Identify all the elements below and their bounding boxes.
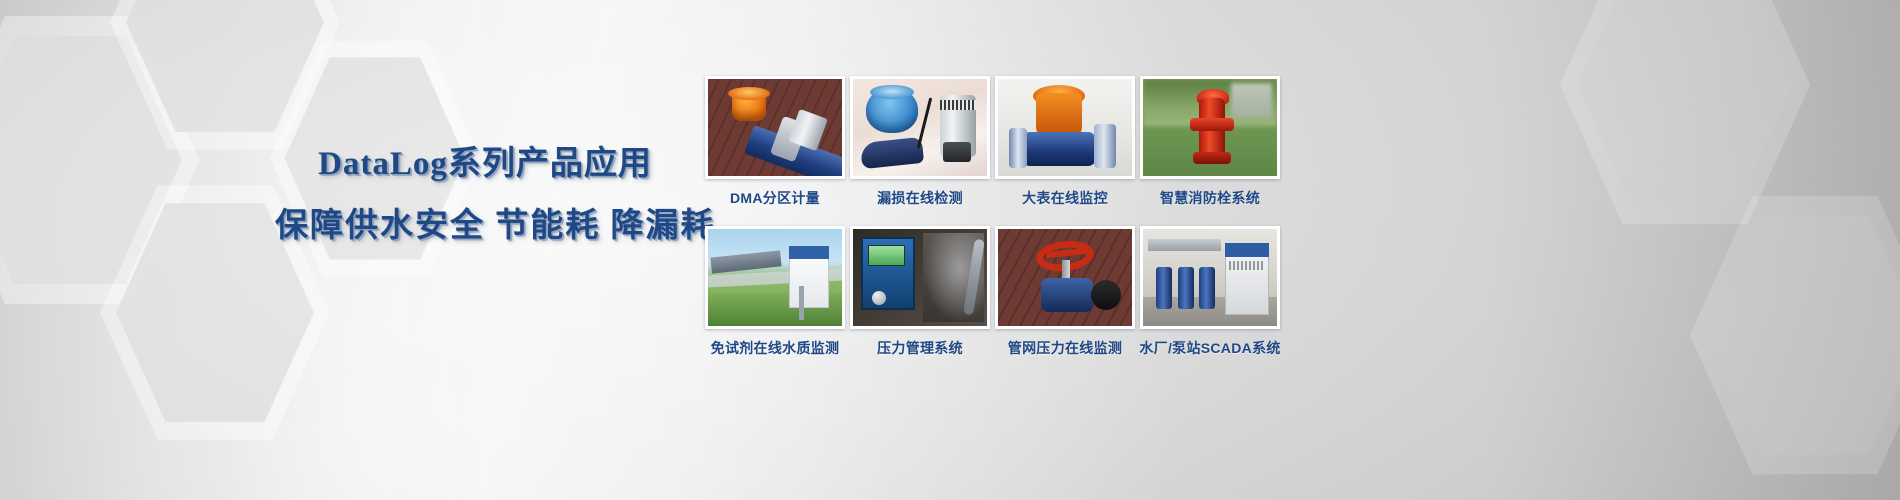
product-thumbnail[interactable] [850, 226, 990, 329]
hexagon-watermark [270, 36, 480, 281]
product-caption: 大表在线监控 [1022, 188, 1108, 208]
leak-logger-device-photo [853, 79, 987, 176]
water-quality-station-photo [708, 229, 842, 326]
product-thumbnail[interactable] [995, 76, 1135, 179]
product-application-banner: DataLog系列产品应用 保障供水安全 节能耗 降漏耗 DMA分区计量 漏 [0, 0, 1900, 500]
hexagon-watermark [0, 10, 200, 310]
product-caption: 智慧消防栓系统 [1160, 188, 1260, 208]
product-cell[interactable]: 免试剂在线水质监测 [705, 226, 845, 371]
product-cell[interactable]: DMA分区计量 [705, 76, 845, 221]
headline-line-2: 保障供水安全 节能耗 降漏耗 [275, 204, 695, 248]
product-cell[interactable]: 管网压力在线监测 [995, 226, 1135, 371]
hexagon-watermark [1560, 0, 1810, 230]
product-caption: 漏损在线检测 [877, 188, 963, 208]
product-caption: 压力管理系统 [877, 338, 963, 358]
product-caption: 免试剂在线水质监测 [711, 338, 840, 358]
product-cell[interactable]: 智慧消防栓系统 [1140, 76, 1280, 221]
product-application-grid: DMA分区计量 漏损在线检测 大表在线监控 [705, 76, 1280, 371]
product-thumbnail[interactable] [1140, 226, 1280, 329]
product-caption: DMA分区计量 [730, 188, 820, 208]
product-thumbnail[interactable] [705, 226, 845, 329]
product-thumbnail[interactable] [705, 76, 845, 179]
hexagon-watermark [1690, 190, 1900, 480]
product-cell[interactable]: 水厂/泵站SCADA系统 [1140, 226, 1280, 371]
water-meter-pipe-photo [708, 79, 842, 176]
product-thumbnail[interactable] [995, 226, 1135, 329]
fire-hydrant-photo [1143, 79, 1277, 176]
product-caption: 水厂/泵站SCADA系统 [1139, 338, 1280, 358]
headline-block: DataLog系列产品应用 保障供水安全 节能耗 降漏耗 [275, 142, 695, 248]
scada-pump-station-photo [1143, 229, 1277, 326]
product-thumbnail[interactable] [1140, 76, 1280, 179]
product-cell[interactable]: 压力管理系统 [850, 226, 990, 371]
product-thumbnail[interactable] [850, 76, 990, 179]
hexagon-watermark [110, 0, 340, 155]
pressure-valve-photo [998, 229, 1132, 326]
product-cell[interactable]: 漏损在线检测 [850, 76, 990, 221]
headline-line-1: DataLog系列产品应用 [275, 142, 695, 186]
pressure-control-cabinet-photo [853, 229, 987, 326]
product-caption: 管网压力在线监测 [1008, 338, 1122, 358]
large-meter-photo [998, 79, 1132, 176]
product-cell[interactable]: 大表在线监控 [995, 76, 1135, 221]
hexagon-watermark [100, 180, 330, 445]
